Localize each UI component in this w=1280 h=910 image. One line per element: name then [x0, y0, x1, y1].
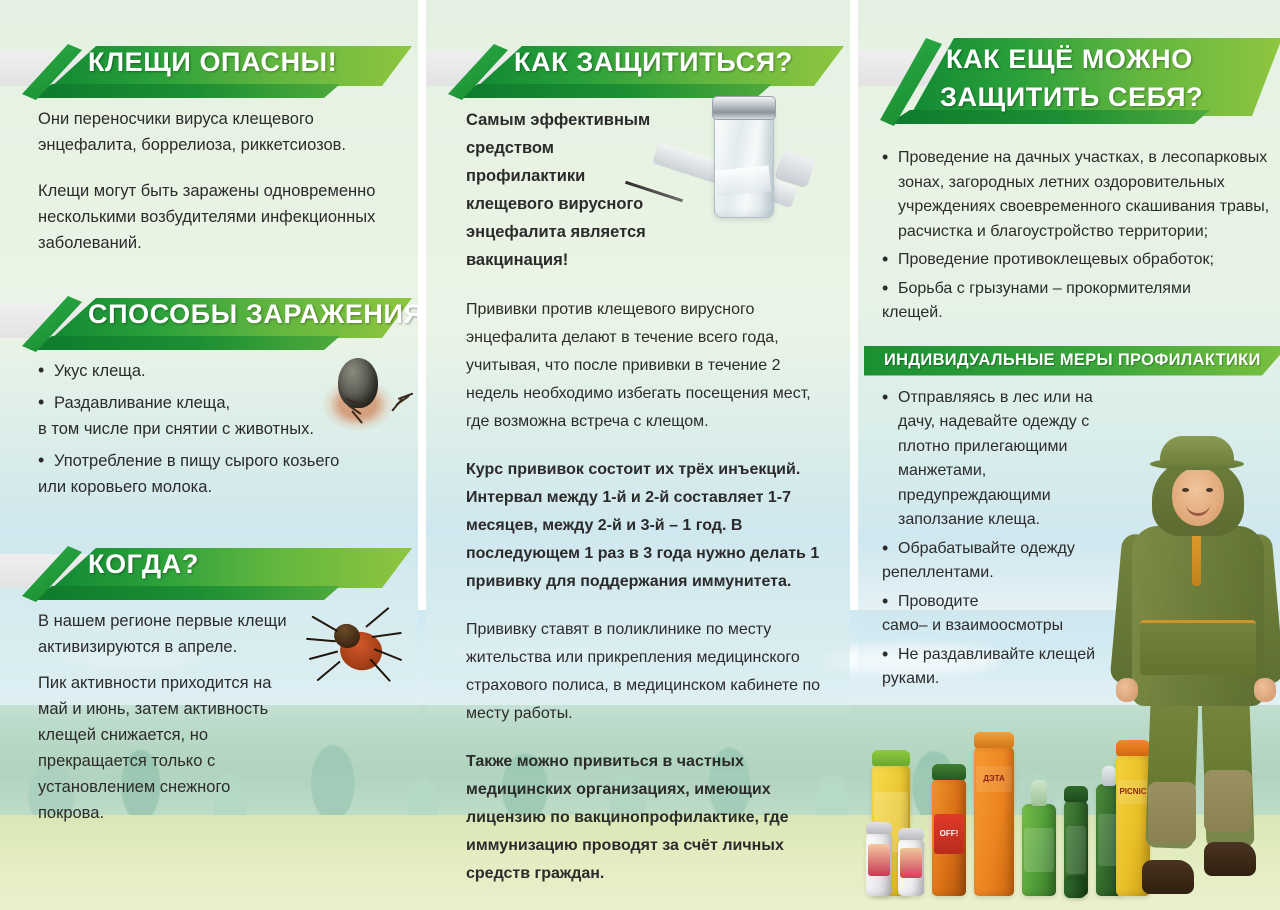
- paragraph: Пик активности приходится на май и июнь,…: [38, 670, 298, 826]
- banner-ways-of-infection: СПОСОБЫ ЗАРАЖЕНИЯ: [0, 290, 418, 352]
- section-ticks-are-dangerous-text: Они переносчики вируса клещевого энцефал…: [0, 106, 418, 256]
- paragraph: Клещи могут быть заражены одновременно н…: [38, 178, 394, 256]
- repellent-bottle: [866, 832, 892, 896]
- general-measures-list: Проведение на дачных участках, в лесопар…: [882, 146, 1274, 326]
- paragraph: В нашем регионе первые клещи активизирую…: [38, 608, 298, 660]
- tick-illustration-image: [300, 596, 410, 706]
- bottle-cap: [1064, 786, 1088, 802]
- bottle-label: [868, 844, 890, 876]
- hand-right: [1254, 678, 1276, 702]
- list-item-continuation: само– и взаимоосмотры: [882, 614, 1128, 639]
- bottle-cap: [898, 828, 924, 840]
- intro-bold-paragraph: Самым эффективным средством профилактики…: [466, 106, 669, 274]
- right-panel: КАК ЕЩЁ МОЖНО ЗАЩИТИТЬ СЕБЯ? Проведение …: [858, 0, 1280, 910]
- list-item: Употребление в пищу сырого козьего или к…: [38, 448, 394, 500]
- boot-right: [1204, 842, 1256, 876]
- eye-left: [1182, 488, 1189, 492]
- bottle-cap: [1031, 780, 1047, 806]
- list-item-text: Укус клеща.: [54, 362, 146, 380]
- gaiter-right: [1204, 770, 1252, 832]
- vial-glass: [714, 106, 774, 218]
- heading-line-2: ЗАЩИТИТЬ СЕБЯ?: [940, 78, 1268, 116]
- list-item: Отправляясь в лес или на дачу, надевайте…: [882, 386, 1128, 533]
- tick-legs: [330, 394, 388, 420]
- individual-measures-list: Отправляясь в лес или на дачу, надевайте…: [882, 386, 1128, 692]
- heading-how-else-to-protect-yourself: КАК ЕЩЁ МОЖНО ЗАЩИТИТЬ СЕБЯ?: [946, 40, 1268, 116]
- list-item: Не раздавливайте клещей руками.: [882, 643, 1128, 692]
- bottle-cap: [866, 822, 892, 834]
- face: [1172, 468, 1224, 526]
- jacket-zipper: [1192, 534, 1201, 586]
- heading-ways-of-infection: СПОСОБЫ ЗАРАЖЕНИЯ: [88, 290, 398, 338]
- tick-safety-brochure: КЛЕЩИ ОПАСНЫ! Они переносчики вируса кле…: [0, 0, 1280, 910]
- left-panel: КЛЕЩИ ОПАСНЫ! Они переносчики вируса кле…: [0, 0, 418, 910]
- bottle-label: [1024, 828, 1054, 872]
- eye-right: [1206, 488, 1213, 492]
- boot-left: [1142, 860, 1194, 894]
- bold-paragraph: Курс прививок состоит их трёх инъекций. …: [466, 456, 828, 596]
- list-item-text: Отправляясь в лес или на дачу, надевайте…: [898, 389, 1093, 529]
- banner-when: КОГДА?: [0, 540, 418, 602]
- list-item: Проведение противоклещевых обработок;: [882, 248, 1274, 273]
- gaiter-left: [1148, 782, 1196, 844]
- bottle-cap: [974, 732, 1014, 748]
- heading-line-1: КАК ЕЩЁ МОЖНО: [946, 40, 1268, 78]
- middle-panel: КАК ЗАЩИТИТЬСЯ? Самым эффективным средст…: [426, 0, 850, 910]
- list-item-text: Проведение противоклещевых обработок;: [898, 251, 1214, 268]
- list-item-text: Употребление в пищу сырого козьего: [54, 452, 339, 470]
- list-item: Проводите само– и взаимоосмотры: [882, 590, 1128, 639]
- list-item-text: Проводите: [898, 593, 978, 610]
- section-how-else-text: Проведение на дачных участках, в лесопар…: [858, 146, 1280, 326]
- heading-when: КОГДА?: [88, 540, 398, 588]
- list-item-continuation: или коровьего молока.: [38, 474, 394, 500]
- paragraph: Прививки против клещевого вирусного энце…: [466, 296, 828, 436]
- list-item-text: Не раздавливайте клещей: [898, 646, 1095, 663]
- list-item-continuation: репеллентами.: [882, 561, 1128, 586]
- list-item-continuation: клещей.: [882, 301, 1274, 326]
- list-item: Обрабатывайте одежду репеллентами.: [882, 537, 1128, 586]
- bottle-label: [1066, 826, 1086, 874]
- repellent-bottle: [898, 838, 924, 896]
- list-item-text: Раздавливание клеща,: [54, 394, 230, 412]
- bottle-cap: [932, 764, 966, 780]
- list-item: Проведение на дачных участках, в лесопар…: [882, 146, 1274, 244]
- list-item-continuation: руками.: [882, 667, 1128, 692]
- jacket-pocket: [1140, 620, 1256, 675]
- banner-how-to-protect: КАК ЗАЩИТИТЬСЯ?: [426, 38, 850, 100]
- banner-under-shape: [30, 84, 340, 98]
- bold-paragraph: Также можно привиться в частных медицинс…: [466, 748, 828, 888]
- banner-how-else-to-protect-yourself: КАК ЕЩЁ МОЖНО ЗАЩИТИТЬ СЕБЯ?: [858, 32, 1280, 128]
- subheading-individual-measures: ИНДИВИДУАЛЬНЫЕ МЕРЫ ПРОФИЛАКТИКИ: [864, 351, 1261, 370]
- repellent-bottle: [1064, 876, 1086, 898]
- paragraph: Прививку ставят в поликлинике по месту ж…: [466, 616, 828, 728]
- hand-left: [1116, 678, 1138, 702]
- banner-ticks-are-dangerous: КЛЕЩИ ОПАСНЫ!: [0, 38, 418, 100]
- vaccine-vial-and-syringe-image: [686, 96, 806, 226]
- list-item: Борьба с грызунами – прокормителями клещ…: [882, 277, 1274, 326]
- list-item-text: Обрабатывайте одежду: [898, 540, 1075, 557]
- heading-how-to-protect: КАК ЗАЩИТИТЬСЯ?: [514, 38, 830, 86]
- heading-ticks-are-dangerous: КЛЕЩИ ОПАСНЫ!: [88, 38, 398, 86]
- repellent-bottle: OFF!: [932, 778, 966, 896]
- man-in-anti-tick-suit-image: [1108, 430, 1280, 910]
- bottle-label: [900, 848, 922, 878]
- repellent-bottle: ДЭТА: [974, 746, 1014, 896]
- list-item-text: Проведение на дачных участках, в лесопар…: [898, 149, 1269, 240]
- vial-metal-cap: [712, 96, 776, 120]
- engorged-tick-on-skin-image: [312, 350, 404, 438]
- banner-under-shape: [30, 336, 340, 350]
- bottle-cap: [872, 750, 910, 766]
- bottle-label: ДЭТА: [976, 766, 1012, 792]
- bottle-label: OFF!: [934, 814, 964, 854]
- banner-under-shape: [30, 586, 340, 600]
- subbanner-individual-measures: ИНДИВИДУАЛЬНЫЕ МЕРЫ ПРОФИЛАКТИКИ: [864, 346, 1280, 376]
- paragraph: Они переносчики вируса клещевого энцефал…: [38, 106, 394, 158]
- hat-crown: [1160, 436, 1234, 466]
- repellent-bottle: [1022, 804, 1056, 896]
- list-item-text: Борьба с грызунами – прокормителями: [898, 280, 1191, 297]
